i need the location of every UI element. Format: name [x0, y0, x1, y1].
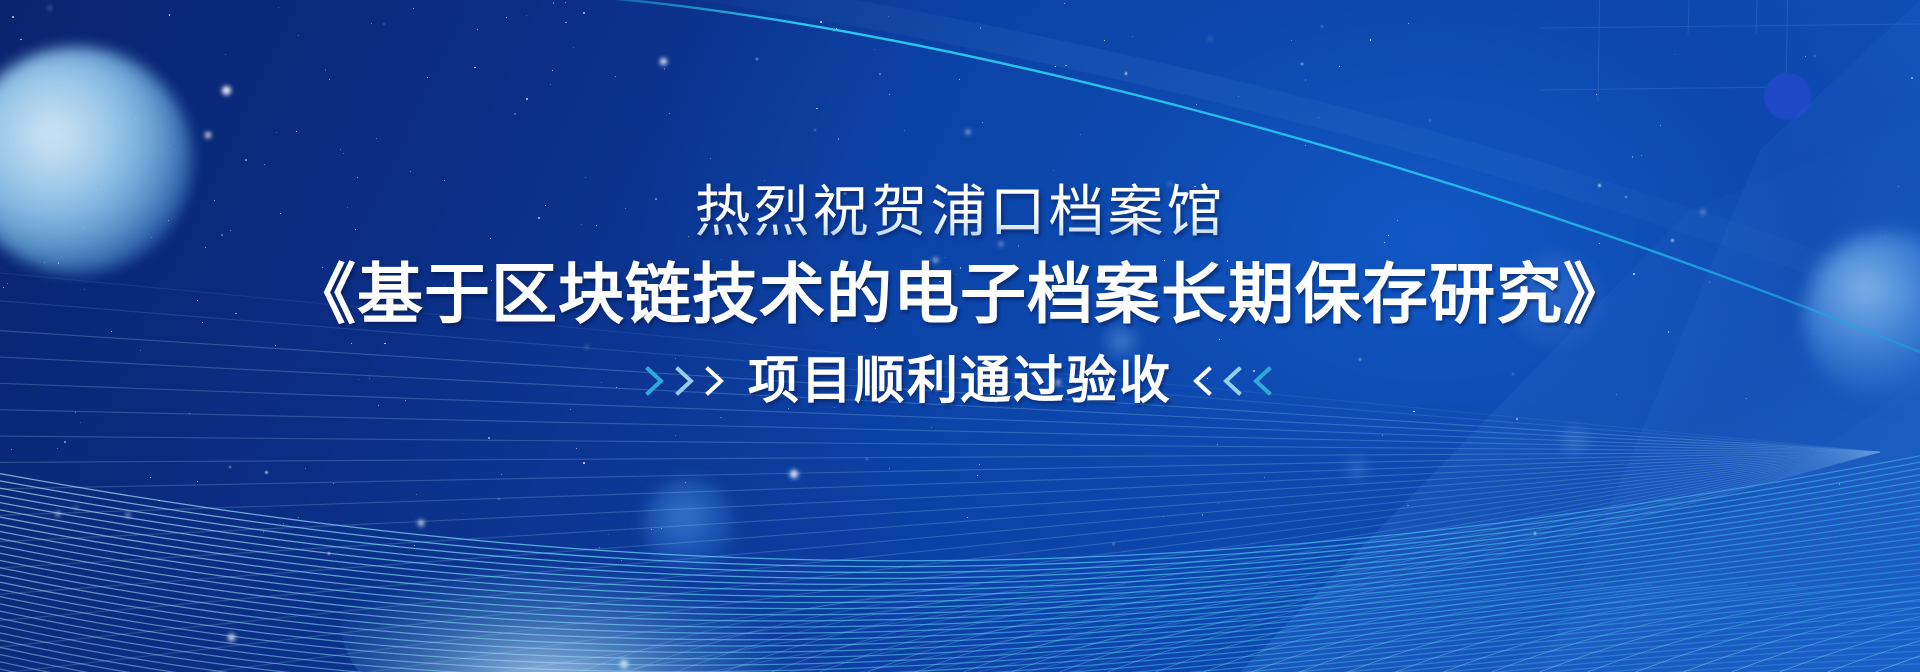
banner-subline: 项目顺利通过验收 — [748, 353, 1172, 409]
banner-title: 《基于区块链技术的电子档案长期保存研究》 — [0, 259, 1920, 330]
banner-headline: 热烈祝贺浦口档案馆 — [0, 182, 1920, 241]
chevrons-right-icon — [644, 361, 728, 401]
glow-dot-center-icon — [642, 478, 736, 572]
promo-banner: 热烈祝贺浦口档案馆 《基于区块链技术的电子档案长期保存研究》 项目顺利通过验收 — [0, 0, 1920, 672]
glow-dot-b-icon — [1555, 420, 1595, 460]
banner-subline-row: 项目顺利通过验收 — [0, 353, 1920, 409]
banner-content: 热烈祝贺浦口档案馆 《基于区块链技术的电子档案长期保存研究》 项目顺利通过验收 — [0, 0, 1920, 409]
glow-dot-c-icon — [1340, 452, 1374, 486]
chevrons-left-icon — [1192, 361, 1276, 401]
